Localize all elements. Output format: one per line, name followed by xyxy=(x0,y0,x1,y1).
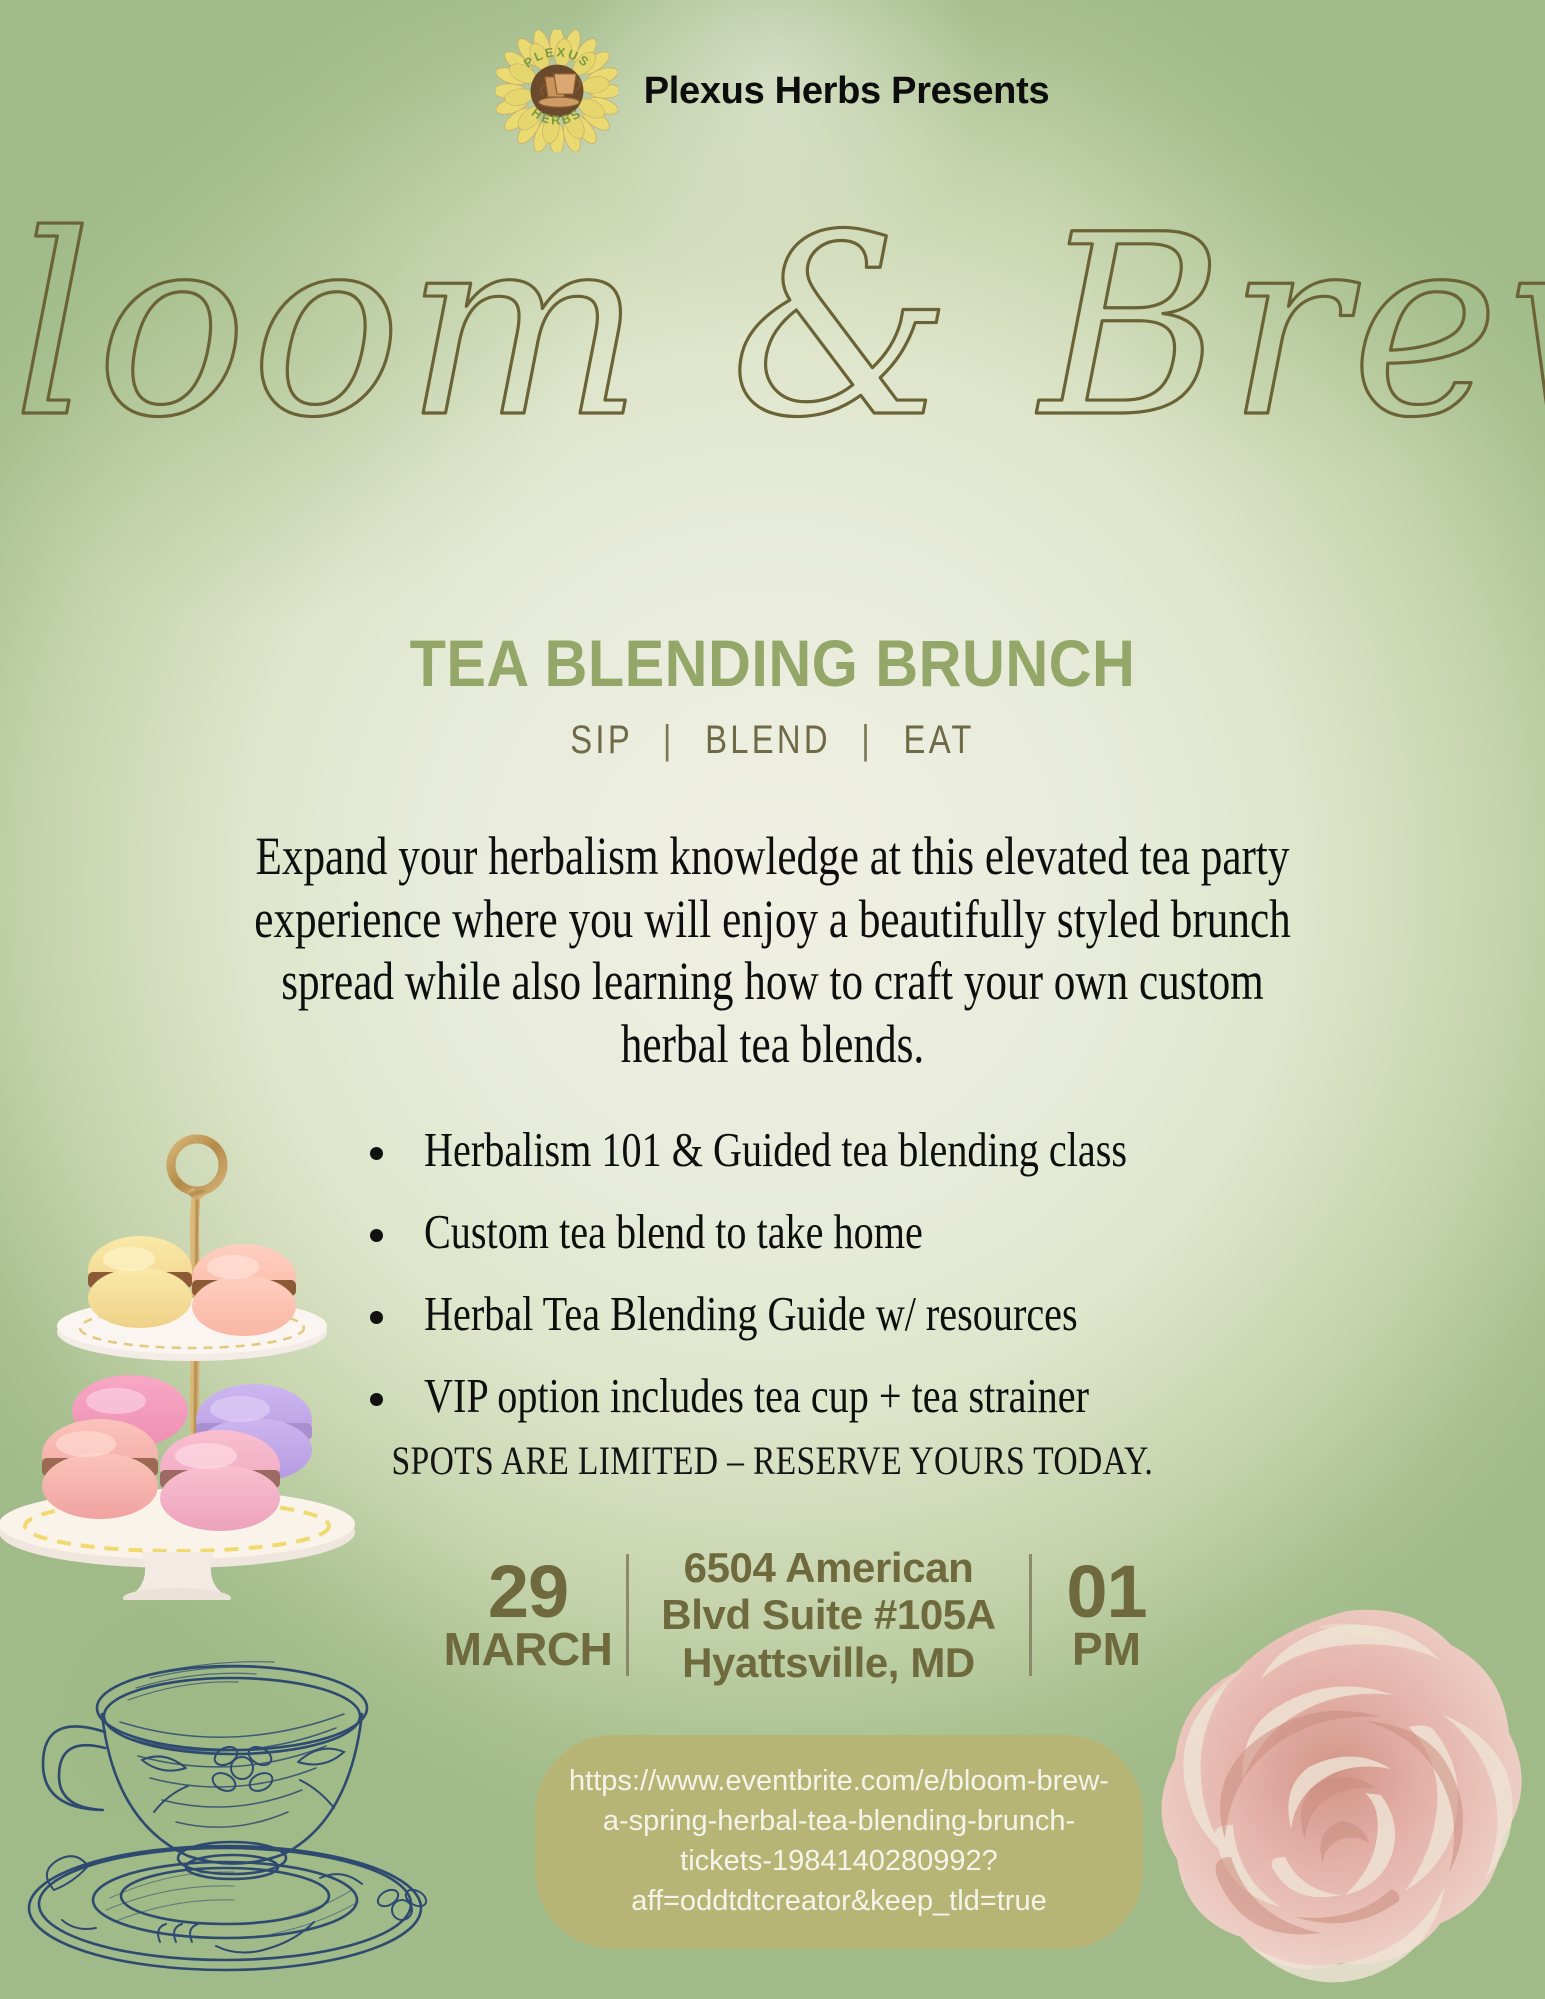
tagline-item-blend: BLEND xyxy=(705,718,831,762)
list-item-label: Herbal Tea Blending Guide w/ resources xyxy=(424,1289,1078,1338)
bullet-dot-icon xyxy=(370,1147,383,1160)
address-line-1: 6504 American xyxy=(684,1544,974,1591)
event-address: 6504 American Blvd Suite #105A Hyattsvil… xyxy=(629,1540,1029,1690)
event-description: Expand your herbalism knowledge at this … xyxy=(231,825,1315,1076)
inclusions-list: Herbalism 101 & Guided tea blending clas… xyxy=(370,1125,1460,1453)
list-item: VIP option includes tea cup + tea strain… xyxy=(370,1371,1460,1420)
flyer-header: PLEXUS HERBS Plexus Herbs Presents xyxy=(0,30,1545,152)
tagline-separator-2: | xyxy=(861,718,873,762)
limited-spots-notice: SPOTS ARE LIMITED – RESERVE YOURS TODAY. xyxy=(0,1437,1545,1484)
presents-label: Plexus Herbs Presents xyxy=(644,70,1050,113)
event-details-bar: 29 MARCH 6504 American Blvd Suite #105A … xyxy=(386,1540,1226,1690)
bullet-dot-icon xyxy=(370,1311,383,1324)
event-time-meridiem: PM xyxy=(1072,1626,1141,1672)
flyer-canvas: PLEXUS HERBS Plexus Herbs Presents Bloom… xyxy=(0,0,1545,1999)
tagline-item-sip: SIP xyxy=(570,718,632,762)
bullet-dot-icon xyxy=(370,1229,383,1242)
list-item-label: Herbalism 101 & Guided tea blending clas… xyxy=(424,1125,1127,1174)
limited-spots-text: SPOTS ARE LIMITED – RESERVE YOURS TODAY. xyxy=(392,1437,1154,1484)
tagline-separator-1: | xyxy=(663,718,675,762)
list-item: Herbalism 101 & Guided tea blending clas… xyxy=(370,1125,1460,1174)
address-line-2: Blvd Suite #105A xyxy=(661,1591,995,1638)
event-time: 01 PM xyxy=(1032,1540,1182,1690)
page-subtitle: TEA BLENDING BRUNCH xyxy=(77,625,1468,701)
list-item-label: VIP option includes tea cup + tea strain… xyxy=(424,1371,1089,1420)
bullet-dot-icon xyxy=(370,1393,383,1406)
event-date-number: 29 xyxy=(488,1558,568,1626)
list-item: Custom tea blend to take home xyxy=(370,1207,1460,1256)
vintage-teacup-illustration xyxy=(10,1590,440,1999)
tagline-item-eat: EAT xyxy=(904,718,975,762)
plexus-herbs-sunflower-logo: PLEXUS HERBS xyxy=(496,30,618,152)
event-date-month: MARCH xyxy=(444,1626,613,1672)
macaron-stand-illustration xyxy=(0,1120,392,1600)
event-time-number: 01 xyxy=(1066,1558,1146,1626)
address-line-3: Hyattsville, MD xyxy=(682,1639,975,1686)
event-date: 29 MARCH xyxy=(431,1540,626,1690)
tagline: SIP | BLEND | EAT xyxy=(139,718,1406,763)
ticket-url-link[interactable]: https://www.eventbrite.com/e/bloom-brew-… xyxy=(535,1735,1143,1949)
list-item-label: Custom tea blend to take home xyxy=(424,1207,923,1256)
list-item: Herbal Tea Blending Guide w/ resources xyxy=(370,1289,1460,1338)
